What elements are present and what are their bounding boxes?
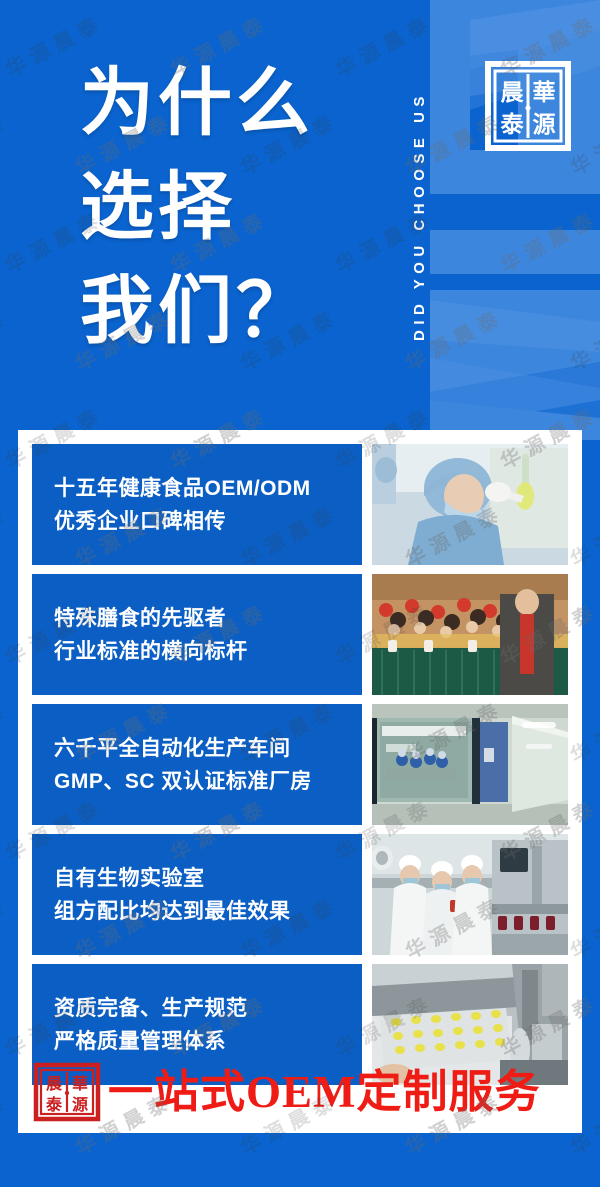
feature-card[interactable]: 十五年健康食品OEM/ODM 优秀企业口碑相传 [32,444,568,565]
feature-card[interactable]: 自有生物实验室 组方配比均达到最佳效果 [32,834,568,955]
feature-card-line-2: 优秀企业口碑相传 [54,505,362,538]
svg-text:泰: 泰 [500,111,525,137]
feature-card[interactable]: 六千平全自动化生产车间 GMP、SC 双认证标准厂房 [32,704,568,825]
svg-text:源: 源 [72,1095,88,1114]
svg-text:源: 源 [533,112,556,137]
feature-card-text: 十五年健康食品OEM/ODM 优秀企业口碑相传 [32,444,362,565]
poster-footer [0,1133,600,1187]
poster-root: 为什么 选择 我们？ DID YOU CHOOSE US 華 源 晨 泰 [0,0,600,1187]
watermark-text: 华源晨泰 [0,888,13,964]
bottom-banner: 華 源 晨 泰 一站式OEM定制服务 [32,1061,568,1123]
feature-card-text: 特殊膳食的先驱者 行业标准的横向标杆 [32,574,362,695]
feature-card-photo-lab-technician [372,444,568,565]
feature-card-line-1: 六千平全自动化生产车间 [54,732,362,765]
feature-card-line-2: 行业标准的横向标杆 [54,635,362,668]
vertical-english-tagline: DID YOU CHOOSE US [398,18,428,414]
feature-card-photo-packaging-line [372,834,568,955]
page-title: 为什么 选择 我们？ [80,52,380,364]
content-frame: 十五年健康食品OEM/ODM 优秀企业口碑相传 [18,430,582,1133]
headline-line-1: 为什么 [80,52,380,156]
feature-card-line-1: 资质完备、生产规范 [54,992,362,1025]
svg-text:晨: 晨 [46,1075,63,1093]
company-seal-red: 華 源 晨 泰 [32,1062,102,1122]
feature-card-line-1: 十五年健康食品OEM/ODM [54,472,362,505]
poster-header: 为什么 选择 我们？ DID YOU CHOOSE US 華 源 晨 泰 [0,0,600,430]
svg-text:華: 華 [533,79,556,105]
feature-card[interactable]: 特殊膳食的先驱者 行业标准的横向标杆 [32,574,568,695]
feature-card-photo-cleanroom [372,704,568,825]
feature-card-line-1: 自有生物实验室 [54,862,362,895]
banner-headline: 一站式OEM定制服务 [108,1070,541,1115]
svg-text:華: 華 [72,1074,88,1093]
feature-card-photo-conference [372,574,568,695]
feature-card-text: 六千平全自动化生产车间 GMP、SC 双认证标准厂房 [32,704,362,825]
feature-card-line-1: 特殊膳食的先驱者 [54,602,362,635]
headline-line-3: 我们？ [80,260,380,364]
feature-card-text: 自有生物实验室 组方配比均达到最佳效果 [32,834,362,955]
watermark-text: 华源晨泰 [0,496,13,572]
company-seal-white: 華 源 晨 泰 [484,58,572,154]
feature-card-line-2: 严格质量管理体系 [54,1025,362,1058]
feature-card-line-2: 组方配比均达到最佳效果 [54,895,362,928]
svg-text:晨: 晨 [501,80,525,105]
watermark-text: 华源晨泰 [0,692,13,768]
svg-text:泰: 泰 [45,1095,63,1114]
feature-card-list: 十五年健康食品OEM/ODM 优秀企业口碑相传 [32,444,568,1085]
headline-line-2: 选择 [80,156,380,260]
feature-card-line-2: GMP、SC 双认证标准厂房 [54,765,362,798]
